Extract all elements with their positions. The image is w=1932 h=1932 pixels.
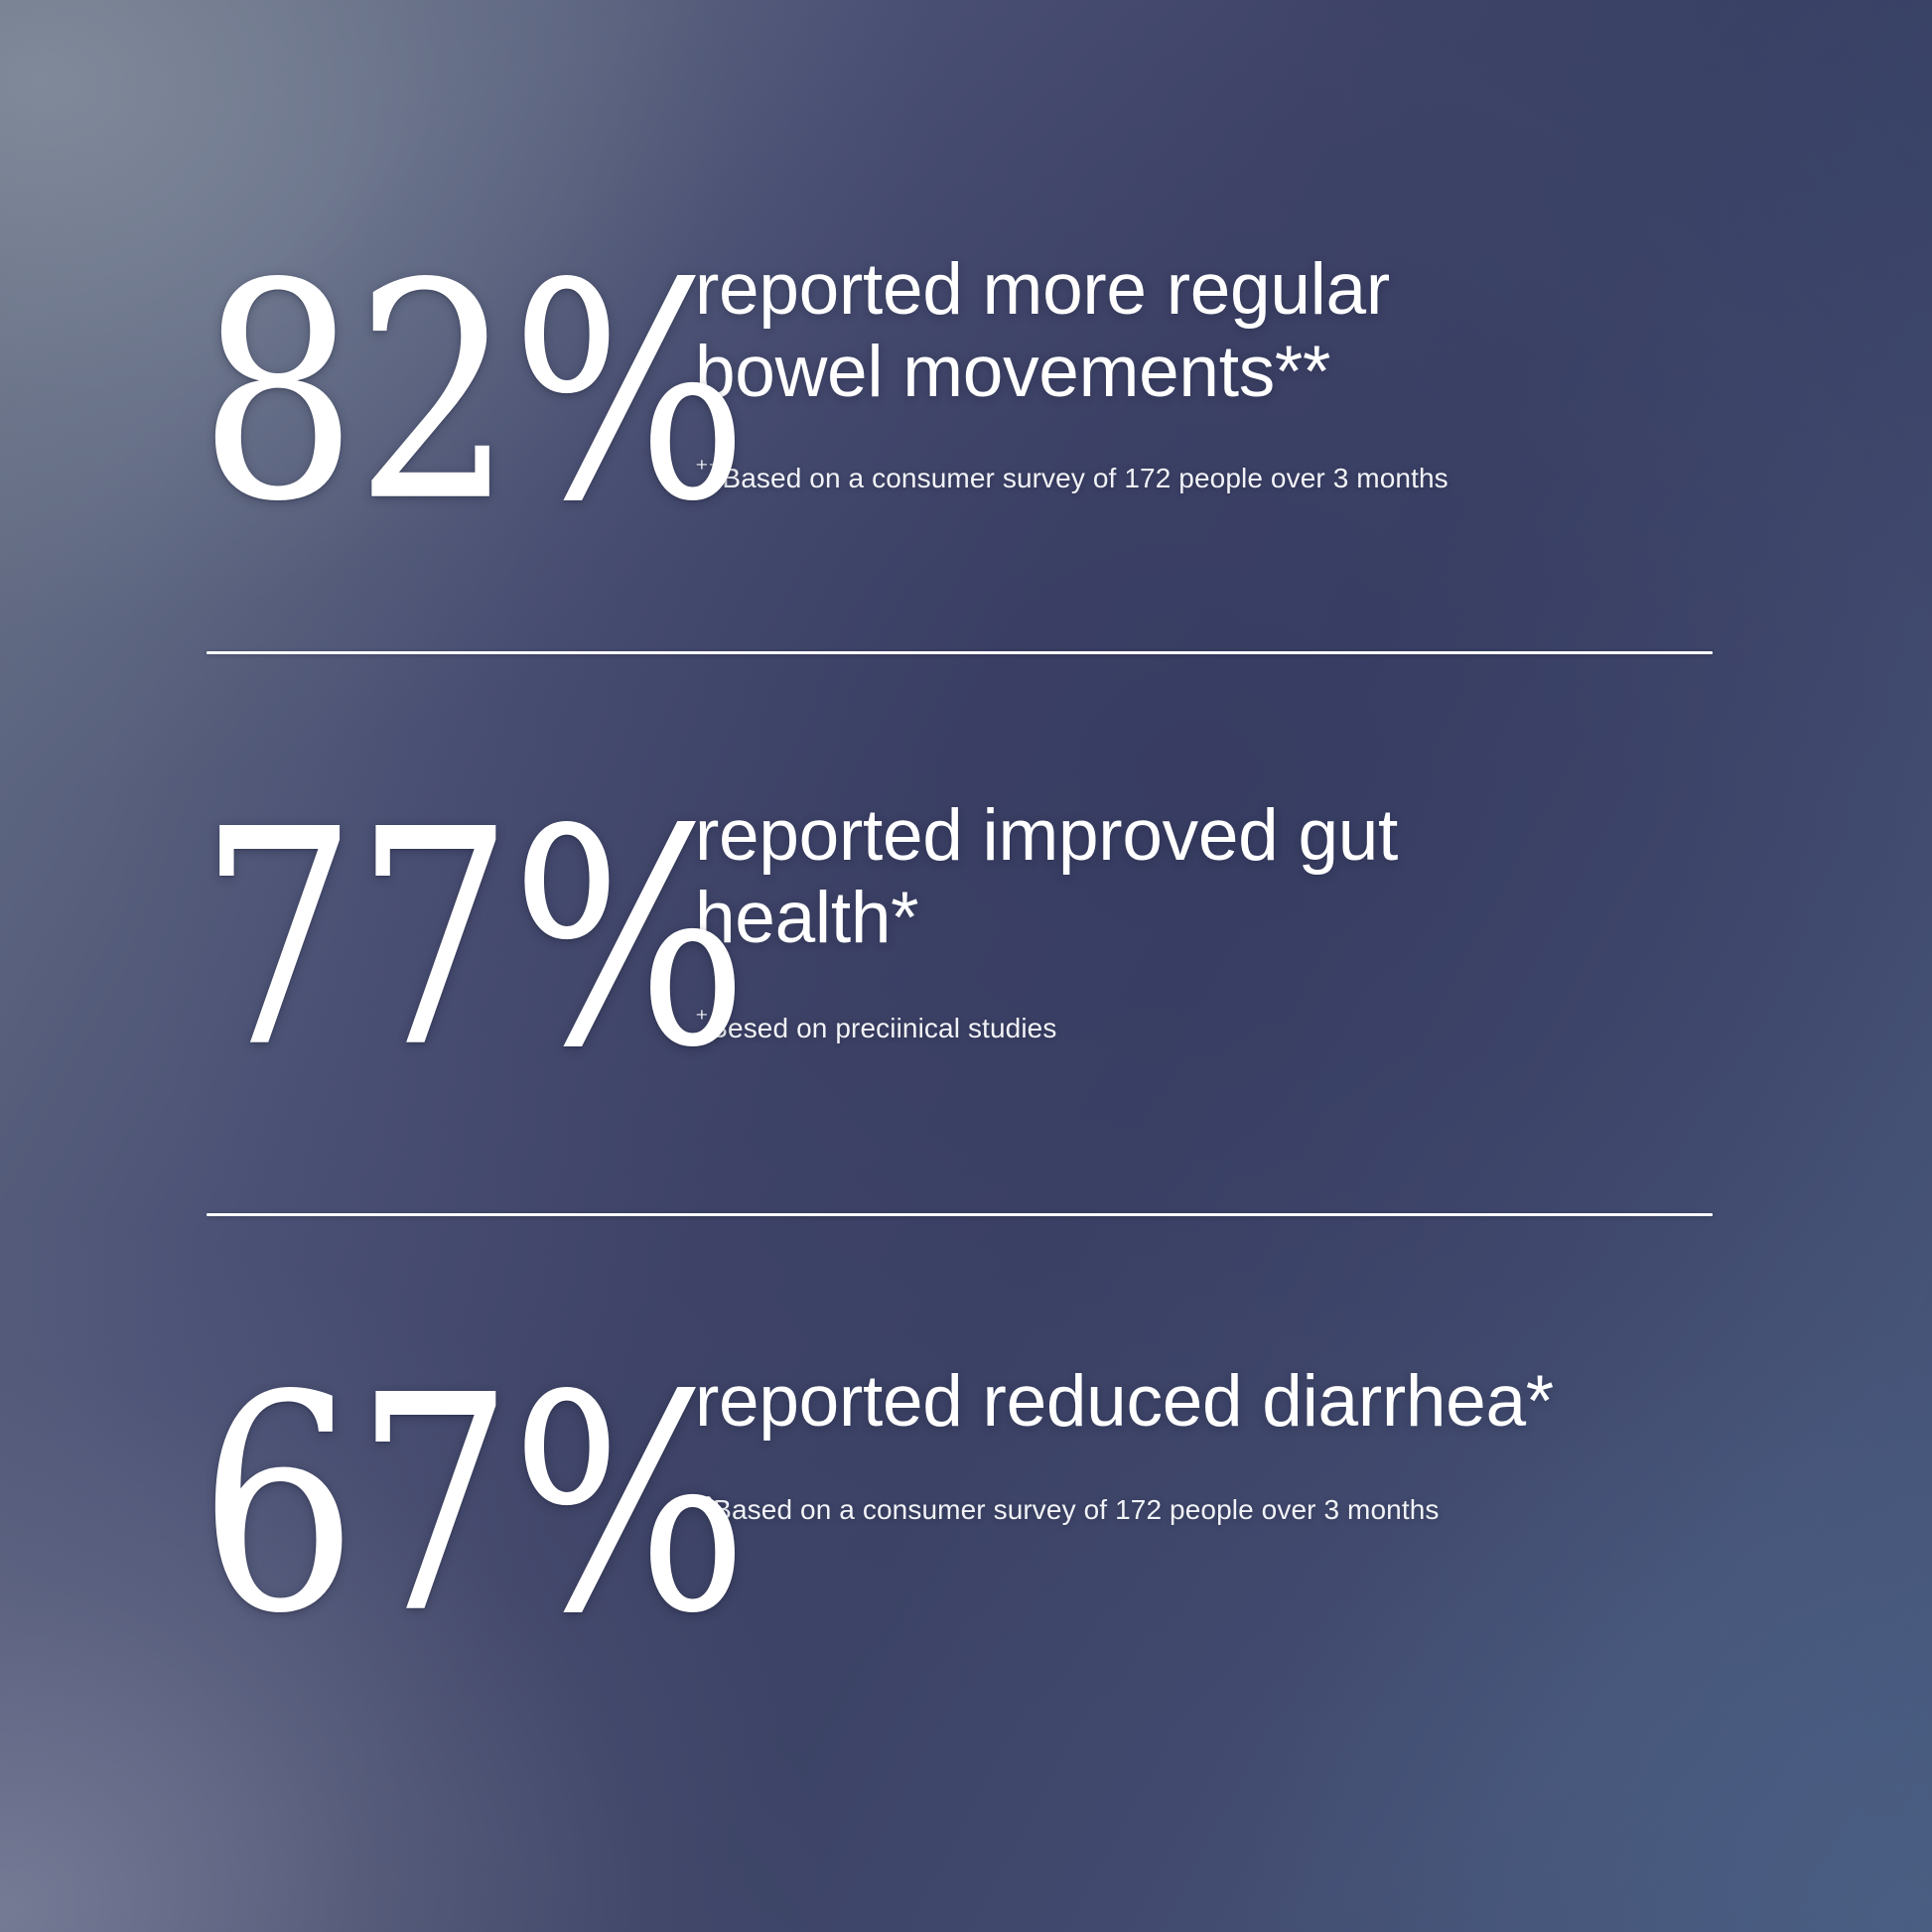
stat-headline: reported reduced diarrhea*	[695, 1360, 1559, 1443]
stat-copy-cell: reported reduced diarrhea* ••Based on a …	[695, 1360, 1932, 1529]
stat-headline: reported more regular bowel movements**	[695, 248, 1559, 413]
stat-value-cell: 67%	[0, 1360, 695, 1621]
stat-value-cell: 77%	[0, 794, 695, 1055]
stat-percentage: 67%	[199, 1360, 746, 1652]
stat-value-cell: 82%	[0, 248, 695, 509]
stat-copy-cell: reported more regular bowel movements** …	[695, 248, 1932, 497]
stat-footnote: ⁺Besed on preciinical studies	[695, 1011, 1737, 1046]
stat-footnote: ⁺⁺Based on a consumer survey of 172 peop…	[695, 461, 1737, 496]
stat-row: 67% reported reduced diarrhea* ••Based o…	[0, 1360, 1932, 1688]
stat-headline: reported improved gut health*	[695, 794, 1559, 959]
stat-row: 82% reported more regular bowel movement…	[0, 248, 1932, 576]
divider	[207, 651, 1713, 654]
divider	[207, 1213, 1713, 1216]
stat-panel-content: 82% reported more regular bowel movement…	[0, 0, 1932, 1932]
stat-row: 77% reported improved gut health* ⁺Besed…	[0, 794, 1932, 1122]
footnote-text: Based on a consumer survey of 172 people…	[722, 463, 1448, 493]
stat-footnote: ••Based on a consumer survey of 172 peop…	[695, 1492, 1737, 1528]
stat-percentage: 82%	[199, 248, 746, 540]
footnote-text: Based on a consumer survey of 172 people…	[713, 1494, 1439, 1525]
stat-percentage: 77%	[199, 794, 746, 1086]
stat-panel-canvas: 82% reported more regular bowel movement…	[0, 0, 1932, 1932]
stat-copy-cell: reported improved gut health* ⁺Besed on …	[695, 794, 1932, 1047]
footnote-text: Besed on preciinical studies	[709, 1013, 1056, 1043]
